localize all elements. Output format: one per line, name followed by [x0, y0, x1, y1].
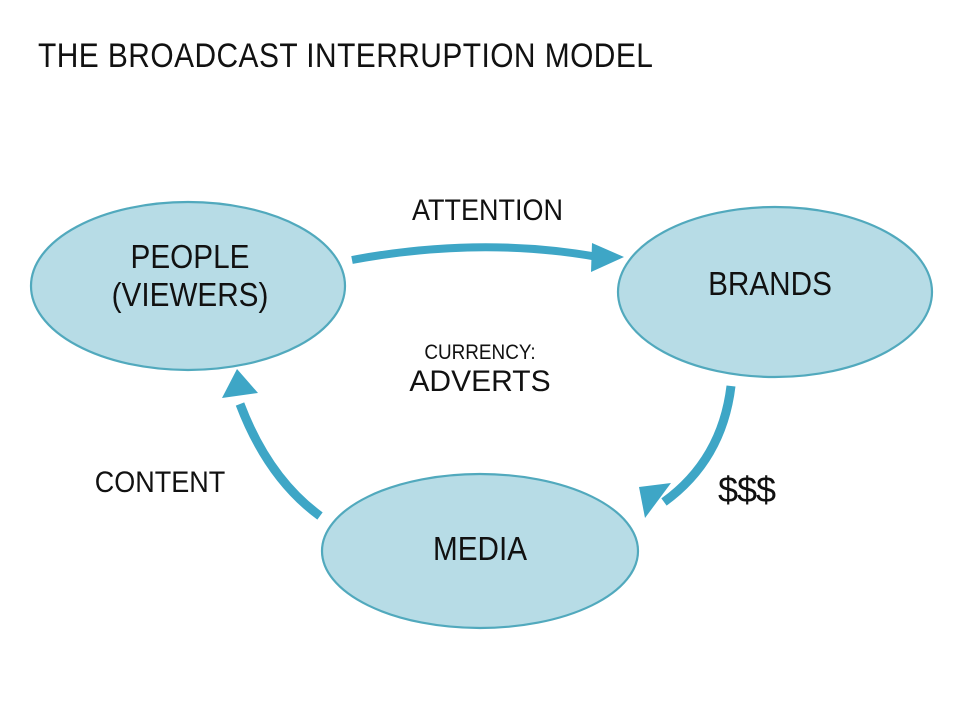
node-label-brands-line1: BRANDS	[635, 265, 905, 303]
content-arrow-head	[222, 369, 258, 398]
edge-attention	[352, 243, 624, 272]
node-label-brands: BRANDS	[635, 265, 905, 303]
node-label-media-line1: MEDIA	[345, 530, 615, 568]
node-label-media: MEDIA	[345, 530, 615, 568]
edge-label-money: $$$	[718, 470, 828, 510]
attention-arrow-head	[591, 243, 624, 272]
edge-label-content: CONTENT	[70, 466, 250, 500]
edge-label-attention: ATTENTION	[368, 194, 607, 228]
currency-note: CURRENCY: ADVERTS	[380, 340, 580, 399]
node-label-people-line2: (VIEWERS)	[55, 276, 325, 314]
slide-canvas: THE BROADCAST INTERRUPTION MODEL PEOPLE …	[0, 0, 960, 720]
node-label-people-line1: PEOPLE	[55, 238, 325, 276]
currency-note-value: ADVERTS	[409, 365, 550, 398]
currency-note-heading: CURRENCY:	[390, 340, 570, 365]
attention-arrow-path	[352, 247, 598, 260]
content-arrow-path	[240, 404, 320, 516]
node-label-people: PEOPLE (VIEWERS)	[55, 238, 325, 314]
